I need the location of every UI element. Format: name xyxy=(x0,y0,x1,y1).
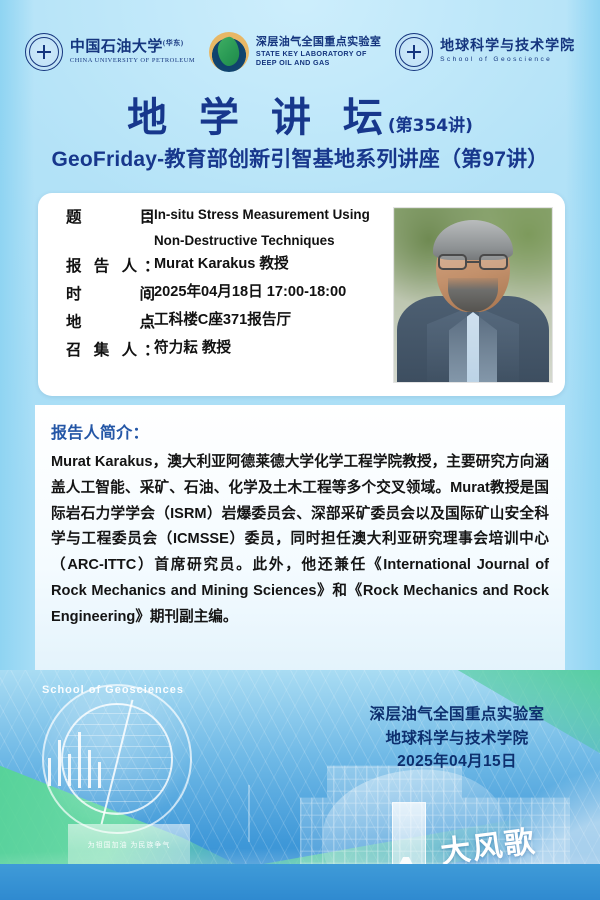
poster-root: 中国石油大学(华东) CHINA UNIVERSITY OF PETROLEUM… xyxy=(0,0,600,900)
lab-name-cn: 深层油气全国重点实验室 xyxy=(256,37,381,49)
info-colon-time: ： xyxy=(144,282,154,304)
info-value-time: 2025年04月18日 17:00-18:00 xyxy=(154,282,346,304)
speaker-bio-panel: 报告人简介： Murat Karakus，澳大利亚阿德莱德大学化学工程学院教授，… xyxy=(35,405,565,700)
info-colon-convener: ： xyxy=(144,338,154,360)
title-block: 地 学 讲 坛(第354讲) GeoFriday-教育部创新引智基地系列讲座（第… xyxy=(0,98,600,172)
art-bottom-band xyxy=(0,864,600,900)
lab-name-en-line2: DEEP OIL AND GAS xyxy=(256,59,381,67)
info-row-convener: 召 集 人 ： 符力耘 教授 xyxy=(66,338,396,360)
cup-seal-icon xyxy=(25,33,63,71)
logo-china-university-of-petroleum: 中国石油大学(华东) CHINA UNIVERSITY OF PETROLEUM xyxy=(25,33,195,71)
oil-drop-icon xyxy=(209,32,249,72)
bio-paragraph: Murat Karakus，澳大利亚阿德莱德大学化学工程学院教授，主要研究方向涵… xyxy=(51,450,549,631)
info-colon-venue: ： xyxy=(144,310,154,332)
info-label-convener: 召 集 人 xyxy=(66,338,144,360)
lecture-info-rows: 题 目 ： In-situ Stress Measurement Using N… xyxy=(66,205,396,366)
cup-name-en: CHINA UNIVERSITY OF PETROLEUM xyxy=(70,58,195,65)
info-value-topic-line2: Non-Destructive Techniques xyxy=(154,233,396,248)
lab-name-en-line1: STATE KEY LABORATORY OF xyxy=(256,50,381,58)
cup-campus-suffix: (华东) xyxy=(163,39,184,47)
info-colon-topic: ： xyxy=(144,205,154,227)
info-row-venue: 地 点 ： 工科楼C座371报告厅 xyxy=(66,310,396,332)
info-row-speaker: 报 告 人 ： Murat Karakus 教授 xyxy=(66,254,396,276)
geoscience-seal-icon xyxy=(395,33,433,71)
cup-logo-text: 中国石油大学(华东) CHINA UNIVERSITY OF PETROLEUM xyxy=(70,40,195,64)
bio-heading: 报告人简介： xyxy=(51,419,549,443)
page-title: 地 学 讲 坛(第354讲) xyxy=(127,98,473,138)
geo-logo-text: 地球科学与技术学院 School of Geoscience xyxy=(440,40,575,65)
info-row-time: 时 间 ： 2025年04月18日 17:00-18:00 xyxy=(66,282,396,304)
logo-school-of-geoscience: 地球科学与技术学院 School of Geoscience xyxy=(395,33,575,71)
cup-name-cn: 中国石油大学(华东) xyxy=(70,40,195,56)
geo-name-en: School of Geoscience xyxy=(440,57,575,64)
info-label-topic: 题 目 xyxy=(66,205,144,227)
signature-date: 2025年04月15日 xyxy=(352,750,562,774)
signature-school: 地球科学与技术学院 xyxy=(352,727,562,751)
seismic-wave-icon xyxy=(46,732,124,788)
info-label-speaker: 报 告 人 xyxy=(66,254,144,276)
info-value-convener: 符力耘 教授 xyxy=(154,338,231,360)
lecture-info-card: 题 目 ： In-situ Stress Measurement Using N… xyxy=(38,193,565,396)
info-label-venue: 地 点 xyxy=(66,310,144,332)
speaker-photo xyxy=(393,207,553,383)
header-logo-bar: 中国石油大学(华东) CHINA UNIVERSITY OF PETROLEUM… xyxy=(0,24,600,80)
info-value-topic: In-situ Stress Measurement Using xyxy=(154,205,370,225)
logo-state-key-laboratory: 深层油气全国重点实验室 STATE KEY LABORATORY OF DEEP… xyxy=(209,32,381,72)
info-label-time: 时 间 xyxy=(66,282,144,304)
signature-lab: 深层油气全国重点实验室 xyxy=(352,703,562,727)
page-subtitle: GeoFriday-教育部创新引智基地系列讲座（第97讲） xyxy=(0,148,600,172)
photo-glasses-icon xyxy=(438,254,508,271)
geo-name-cn: 地球科学与技术学院 xyxy=(440,40,575,55)
footer-signature: 深层油气全国重点实验室 地球科学与技术学院 2025年04月15日 xyxy=(352,703,562,774)
info-value-venue: 工科楼C座371报告厅 xyxy=(154,310,291,332)
page-title-session: (第354讲) xyxy=(388,116,473,136)
info-value-speaker: Murat Karakus 教授 xyxy=(154,254,289,276)
info-row-topic: 题 目 ： In-situ Stress Measurement Using xyxy=(66,205,396,227)
info-colon-speaker: ： xyxy=(144,254,154,276)
lab-logo-text: 深层油气全国重点实验室 STATE KEY LABORATORY OF DEEP… xyxy=(256,37,381,66)
